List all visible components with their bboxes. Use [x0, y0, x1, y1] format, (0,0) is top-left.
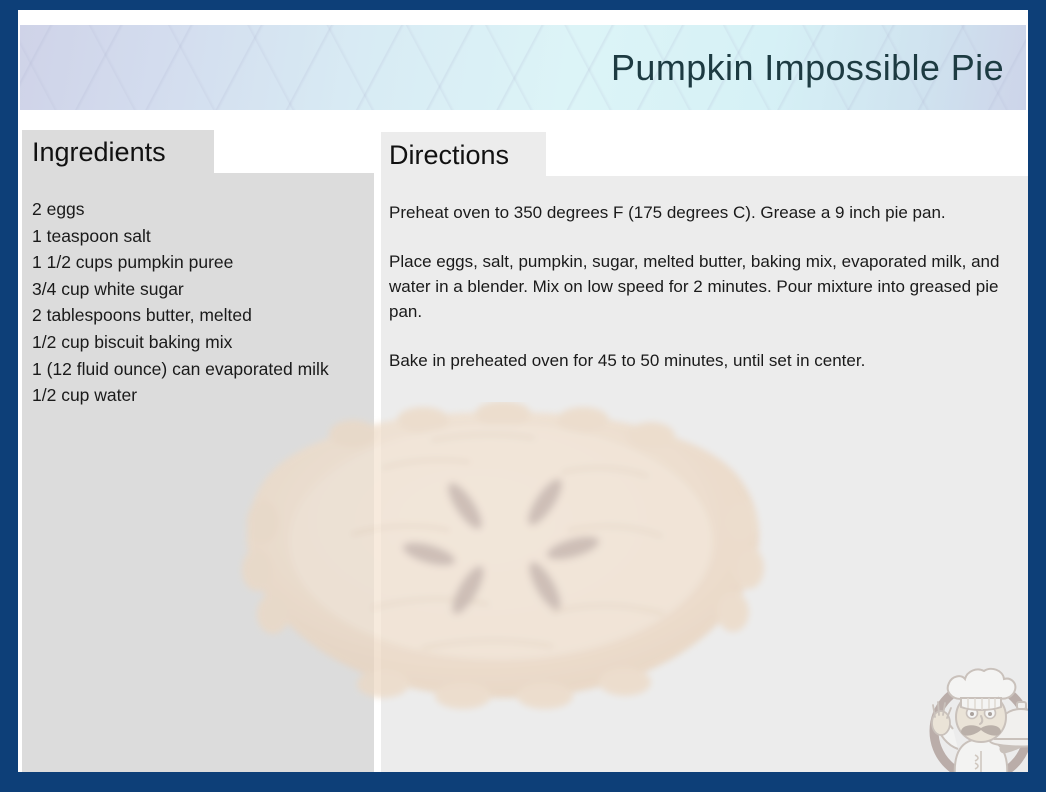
list-item: 1/2 cup water: [32, 382, 364, 409]
directions-steps: Preheat oven to 350 degrees F (175 degre…: [381, 200, 1028, 373]
title-banner: Pumpkin Impossible Pie: [20, 25, 1026, 110]
direction-paragraph: Bake in preheated oven for 45 to 50 minu…: [389, 348, 1024, 373]
ingredients-heading: Ingredients: [32, 139, 166, 166]
list-item: 2 tablespoons butter, melted: [32, 302, 364, 329]
list-item: 1/2 cup biscuit baking mix: [32, 329, 364, 356]
ingredients-heading-tab: Ingredients: [22, 130, 214, 175]
directions-heading: Directions: [389, 142, 509, 169]
list-item: 2 eggs: [32, 196, 364, 223]
page-title: Pumpkin Impossible Pie: [611, 47, 1004, 89]
list-item: 1 (12 fluid ounce) can evaporated milk: [32, 356, 364, 383]
ingredients-list: 2 eggs 1 teaspoon salt 1 1/2 cups pumpki…: [22, 196, 374, 409]
direction-paragraph: Place eggs, salt, pumpkin, sugar, melted…: [389, 249, 1024, 324]
recipe-slide: Pumpkin Impossible Pie Ingredients Direc…: [0, 0, 1046, 792]
slide-inner-frame: Pumpkin Impossible Pie Ingredients Direc…: [18, 10, 1028, 772]
directions-heading-tab: Directions: [381, 132, 546, 178]
list-item: 3/4 cup white sugar: [32, 276, 364, 303]
direction-paragraph: Preheat oven to 350 degrees F (175 degre…: [389, 200, 1024, 225]
list-item: 1 teaspoon salt: [32, 223, 364, 250]
list-item: 1 1/2 cups pumpkin puree: [32, 249, 364, 276]
